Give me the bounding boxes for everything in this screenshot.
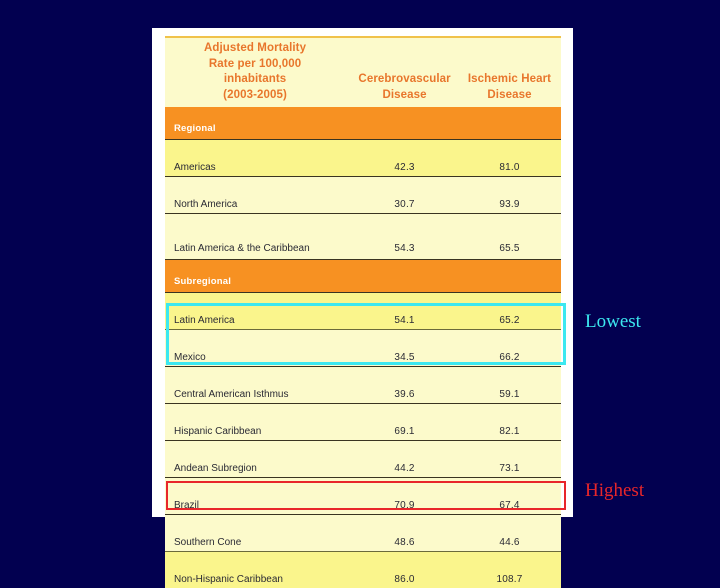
table-row-central-american-isthmus: Central American Isthmus 39.6 59.1 <box>165 367 561 404</box>
row-value-ischemic: 73.1 <box>458 441 561 478</box>
table-row: Hispanic Caribbean 69.1 82.1 <box>165 404 561 441</box>
row-label: North America <box>165 177 351 214</box>
row-value-cerebrovascular: 44.2 <box>351 441 458 478</box>
row-label: Hispanic Caribbean <box>165 404 351 441</box>
row-value-cerebrovascular: 42.3 <box>351 140 458 177</box>
header-col-cerebrovascular: Cerebrovascular Disease <box>351 41 458 107</box>
row-value-ischemic: 44.6 <box>458 515 561 552</box>
table-row: Americas 42.3 81.0 <box>165 140 561 177</box>
row-value-ischemic: 65.5 <box>458 214 561 260</box>
table-header-row: Adjusted Mortality Rate per 100,000 inha… <box>165 41 561 107</box>
row-label: Southern Cone <box>165 515 351 552</box>
table-row: Andean Subregion 44.2 73.1 <box>165 441 561 478</box>
slide-canvas: Adjusted Mortality Rate per 100,000 inha… <box>0 0 720 540</box>
row-value-ischemic: 59.1 <box>458 367 561 404</box>
row-label: Mexico <box>165 330 351 367</box>
row-value-ischemic: 67.4 <box>458 478 561 515</box>
row-label: Americas <box>165 140 351 177</box>
header-title-cell: Adjusted Mortality Rate per 100,000 inha… <box>165 41 351 107</box>
table-row: North America 30.7 93.9 <box>165 177 561 214</box>
row-label: Latin America & the Caribbean <box>165 214 351 260</box>
header-col-ischemic: Ischemic Heart Disease <box>458 41 561 107</box>
row-value-cerebrovascular: 86.0 <box>351 552 458 588</box>
row-value-ischemic: 82.1 <box>458 404 561 441</box>
mortality-table: Adjusted Mortality Rate per 100,000 inha… <box>165 36 561 588</box>
row-label: Central American Isthmus <box>165 367 351 404</box>
row-label: Non-Hispanic Caribbean <box>165 552 351 588</box>
table-row: Southern Cone 48.6 44.6 <box>165 515 561 552</box>
row-value-cerebrovascular: 54.3 <box>351 214 458 260</box>
row-value-cerebrovascular: 54.1 <box>351 293 458 330</box>
row-value-cerebrovascular: 39.6 <box>351 367 458 404</box>
table-row: Latin America & the Caribbean 54.3 65.5 <box>165 214 561 260</box>
section-band-regional: Regional <box>165 107 561 140</box>
table-row-mexico: Mexico 34.5 66.2 <box>165 330 561 367</box>
row-label: Latin America <box>165 293 351 330</box>
header-title-line-3: inhabitants <box>165 72 345 88</box>
mortality-table-container: Adjusted Mortality Rate per 100,000 inha… <box>165 36 561 511</box>
row-value-cerebrovascular: 34.5 <box>351 330 458 367</box>
row-value-ischemic: 65.2 <box>458 293 561 330</box>
table-card: Adjusted Mortality Rate per 100,000 inha… <box>152 28 573 517</box>
table-row: Brazil 70.9 67.4 <box>165 478 561 515</box>
row-label: Brazil <box>165 478 351 515</box>
table-row-non-hispanic-caribbean: Non-Hispanic Caribbean 86.0 108.7 <box>165 552 561 588</box>
row-value-ischemic: 81.0 <box>458 140 561 177</box>
header-title-line-2: Rate per 100,000 <box>165 57 345 73</box>
highest-annotation-label: Highest <box>585 480 644 502</box>
table-row: Latin America 54.1 65.2 <box>165 293 561 330</box>
section-band-regional-label: Regional <box>165 107 561 140</box>
section-band-subregional: Subregional <box>165 260 561 293</box>
lowest-annotation-label: Lowest <box>585 311 641 333</box>
row-value-cerebrovascular: 69.1 <box>351 404 458 441</box>
row-label: Andean Subregion <box>165 441 351 478</box>
header-title-line-4: (2003-2005) <box>165 88 345 104</box>
header-title-line-1: Adjusted Mortality <box>165 41 345 57</box>
row-value-cerebrovascular: 30.7 <box>351 177 458 214</box>
row-value-ischemic: 108.7 <box>458 552 561 588</box>
header-col2-line-2: Disease <box>458 88 561 104</box>
section-band-subregional-label: Subregional <box>165 260 561 293</box>
row-value-ischemic: 93.9 <box>458 177 561 214</box>
header-col1-line-1: Cerebrovascular <box>351 72 458 88</box>
header-col2-line-1: Ischemic Heart <box>458 72 561 88</box>
row-value-cerebrovascular: 48.6 <box>351 515 458 552</box>
row-value-cerebrovascular: 70.9 <box>351 478 458 515</box>
row-value-ischemic: 66.2 <box>458 330 561 367</box>
header-col1-line-2: Disease <box>351 88 458 104</box>
